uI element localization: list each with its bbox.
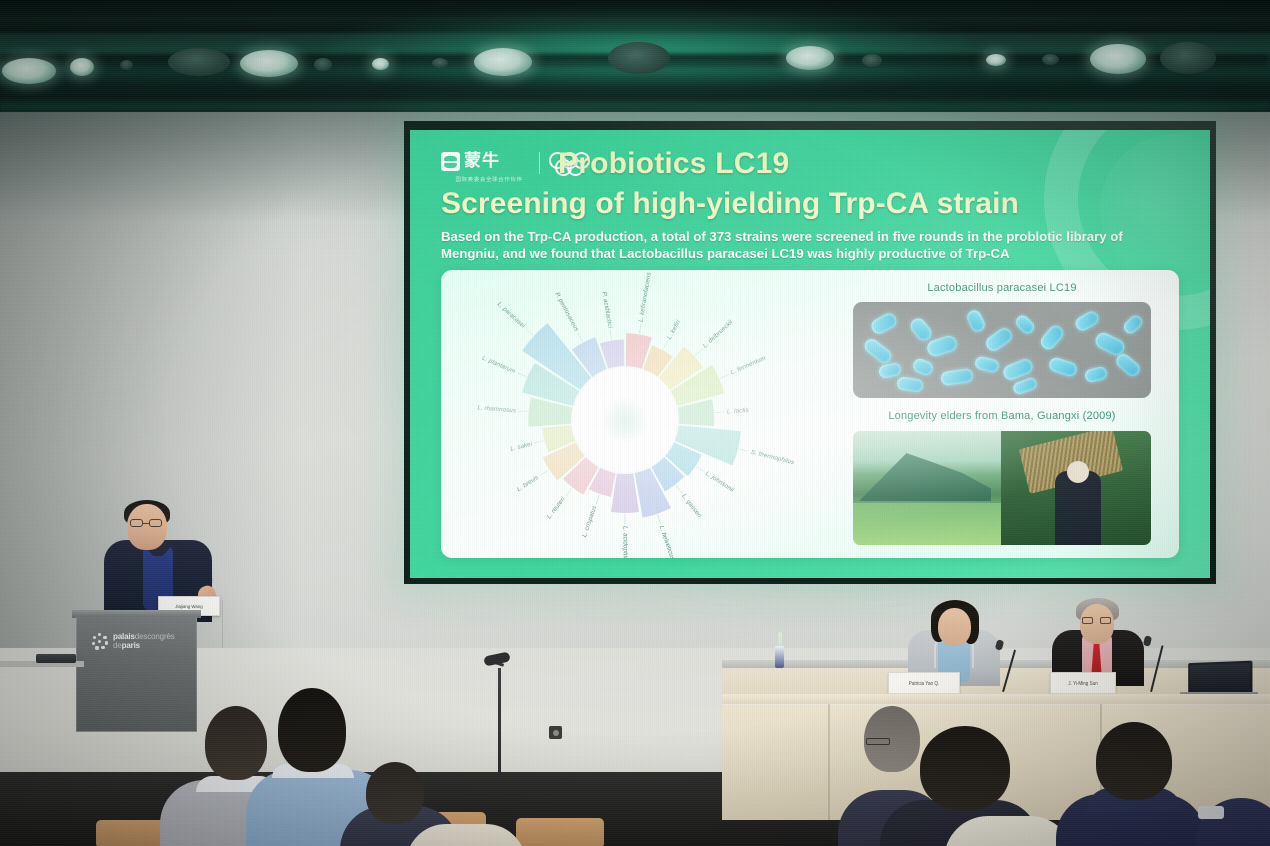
bama-landscape-photo [853, 431, 1001, 545]
elders-image [853, 431, 1151, 545]
left-laptop [36, 654, 76, 663]
water-bottle [775, 632, 784, 668]
radial-label-leader [695, 349, 702, 356]
panelist-right-head [1080, 604, 1114, 644]
radial-label-leader [663, 341, 668, 350]
ceiling-downlight [474, 48, 532, 76]
slide-title-main: Screening of high-yielding Trp-CA strain [441, 187, 1019, 221]
radial-label-leader [526, 329, 533, 336]
micrograph-caption: Lactobacillus paracasei LC19 [847, 282, 1157, 294]
ceiling-downlight [1160, 42, 1216, 74]
speaker-glasses-icon [130, 519, 164, 528]
radial-label-leader [739, 449, 749, 451]
conference-room-photo: 蒙牛 国际奥委会全球合作伙伴 Probiotics LC19 Screening… [0, 0, 1270, 846]
ceiling-downlight [786, 46, 834, 70]
ceiling-downlight [432, 58, 448, 68]
ceiling-downlight [240, 50, 298, 77]
radial-label-leader [517, 373, 526, 377]
ceiling-downlight [2, 58, 56, 84]
radial-chart-label: L. acidophilus [622, 526, 629, 558]
radial-label-leader [566, 488, 572, 496]
audience-chair [96, 820, 170, 846]
ceiling-downlight [986, 54, 1006, 66]
mengniu-mark-icon [441, 152, 460, 171]
podium: palaisdescongrès deparis [76, 616, 197, 732]
audience-member-head [278, 688, 346, 772]
slide-title-kicker: Probiotics LC19 [558, 147, 789, 181]
audience-member-head [366, 762, 424, 824]
micrograph-image [853, 302, 1151, 398]
audience-member-cuff [1198, 806, 1224, 819]
palais-congres-mark-icon [91, 633, 108, 650]
ceiling-downlight [372, 58, 389, 70]
venue-logo-part4: paris [122, 641, 140, 650]
radial-label-leader [610, 330, 612, 340]
radial-label-leader [540, 470, 548, 475]
slide-body-text: Based on the Trp-CA production, a total … [441, 228, 1181, 262]
radial-chart-label: L. lactis [727, 406, 749, 415]
microphone-stand [498, 668, 501, 780]
radial-bar-segment [611, 471, 639, 513]
bama-elder-photo [1001, 431, 1151, 545]
ceiling-downlight [70, 58, 94, 76]
ceiling-downlight [862, 54, 882, 67]
venue-logo: palaisdescongrès deparis [91, 633, 175, 650]
ceiling-downlight [168, 48, 230, 76]
panel-nameplate-left: Patricia Yao Q. [888, 672, 960, 694]
radial-label-leader [715, 412, 725, 413]
venue-logo-part3: de [113, 641, 122, 650]
radial-label-leader [596, 495, 599, 504]
radial-label-leader [696, 467, 704, 472]
chart-center-hub [573, 368, 677, 472]
ceiling-downlight [608, 42, 670, 74]
radial-label-leader [676, 485, 682, 493]
radial-bar-chart: L. kefiranofaciensL. kefiriL. delbruecki… [469, 282, 789, 550]
radial-label-leader [534, 441, 544, 443]
logo-divider [539, 152, 540, 174]
panel-nameplate-left-text: Patricia Yao Q. [909, 680, 939, 686]
elders-caption: Longevity elders from Bama, Guangxi (200… [837, 410, 1167, 422]
audience-member-head [920, 726, 1010, 810]
podium-nameplate-text: Jiajiang Wang [175, 603, 202, 609]
mengniu-logo: 蒙牛 国际奥委会全球合作伙伴 [441, 152, 537, 183]
presentation-slide: 蒙牛 国际奥委会全球合作伙伴 Probiotics LC19 Screening… [410, 130, 1210, 578]
ceiling-downlight [314, 58, 332, 71]
panel-nameplate-right-text: J. Yi-Ming Sun [1068, 680, 1098, 686]
panelist-left-head [938, 608, 971, 646]
audience-member-head [1096, 722, 1172, 800]
mengniu-brand-sub: 国际奥委会全球合作伙伴 [441, 175, 537, 182]
panel-nameplate-right: J. Yi-Ming Sun [1050, 672, 1116, 694]
radial-label-leader [518, 411, 528, 412]
projection-screen: 蒙牛 国际奥委会全球合作伙伴 Probiotics LC19 Screening… [404, 121, 1216, 584]
radial-label-leader [639, 324, 641, 334]
ceiling-downlight [120, 60, 133, 70]
radial-label-leader [720, 374, 729, 378]
panelist-right-glasses-icon [1082, 617, 1112, 624]
ceiling [0, 0, 1270, 118]
audience-chair [516, 818, 604, 846]
mengniu-brand-cn: 蒙牛 [464, 152, 500, 171]
audience-member-head [205, 706, 267, 780]
radial-label-leader [658, 515, 661, 524]
ceiling-downlight [1042, 54, 1059, 65]
audience-member-glasses-icon [866, 738, 890, 745]
table-panel-seam [828, 704, 830, 820]
ceiling-downlight [1090, 44, 1146, 74]
venue-logo-part2: descongrès [135, 632, 175, 641]
radial-label-leader [578, 333, 583, 342]
wall-socket [549, 726, 562, 739]
slide-content-panel: L. kefiranofaciensL. kefiriL. delbruecki… [441, 270, 1179, 558]
